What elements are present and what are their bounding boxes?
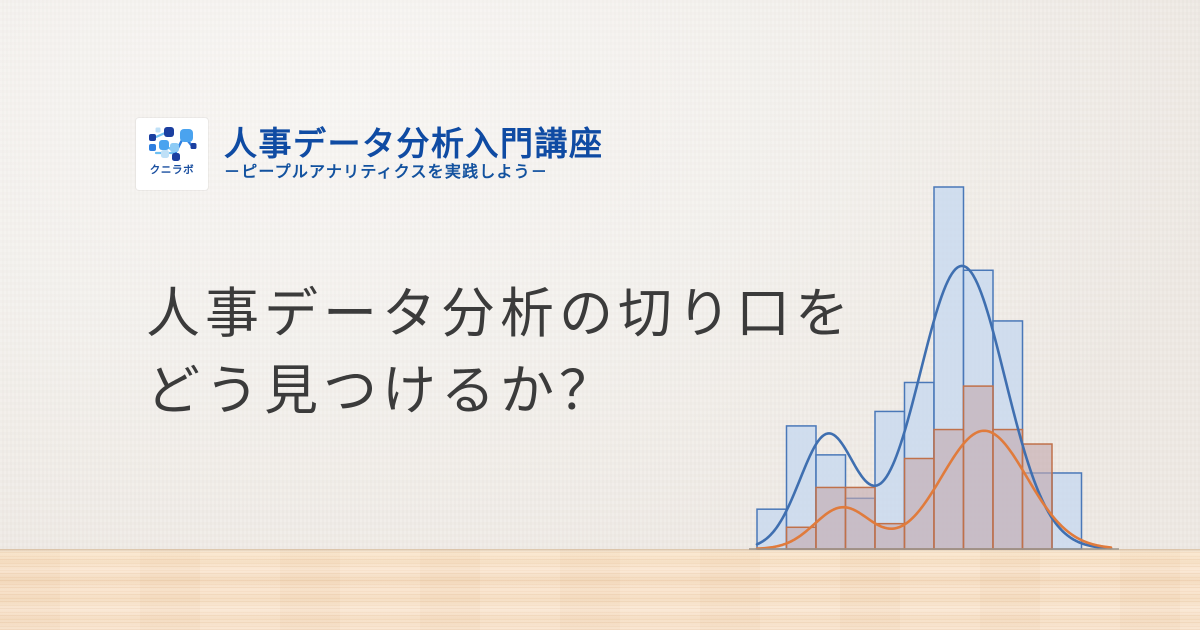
- brand-title: 人事データ分析入門講座: [224, 126, 604, 162]
- chart-canvas: [740, 170, 1140, 565]
- brand-text-group: 人事データ分析入門講座 －ピープルアナリティクスを実践しよう－: [224, 126, 604, 183]
- distribution-histogram-chart: [740, 170, 1140, 565]
- histogram-bar: [905, 459, 935, 550]
- histogram-bar: [787, 527, 817, 549]
- logo-wordmark: クニラボ: [150, 165, 194, 176]
- histogram-bar: [964, 386, 994, 549]
- brand-lockup: クニラボ 人事データ分析入門講座 －ピープルアナリティクスを実践しよう－: [136, 118, 604, 190]
- network-nodes-icon: [143, 123, 201, 163]
- kunilabo-logo: クニラボ: [136, 118, 208, 190]
- brand-subtitle: －ピープルアナリティクスを実践しよう－: [224, 164, 604, 182]
- histogram-bar: [846, 487, 876, 549]
